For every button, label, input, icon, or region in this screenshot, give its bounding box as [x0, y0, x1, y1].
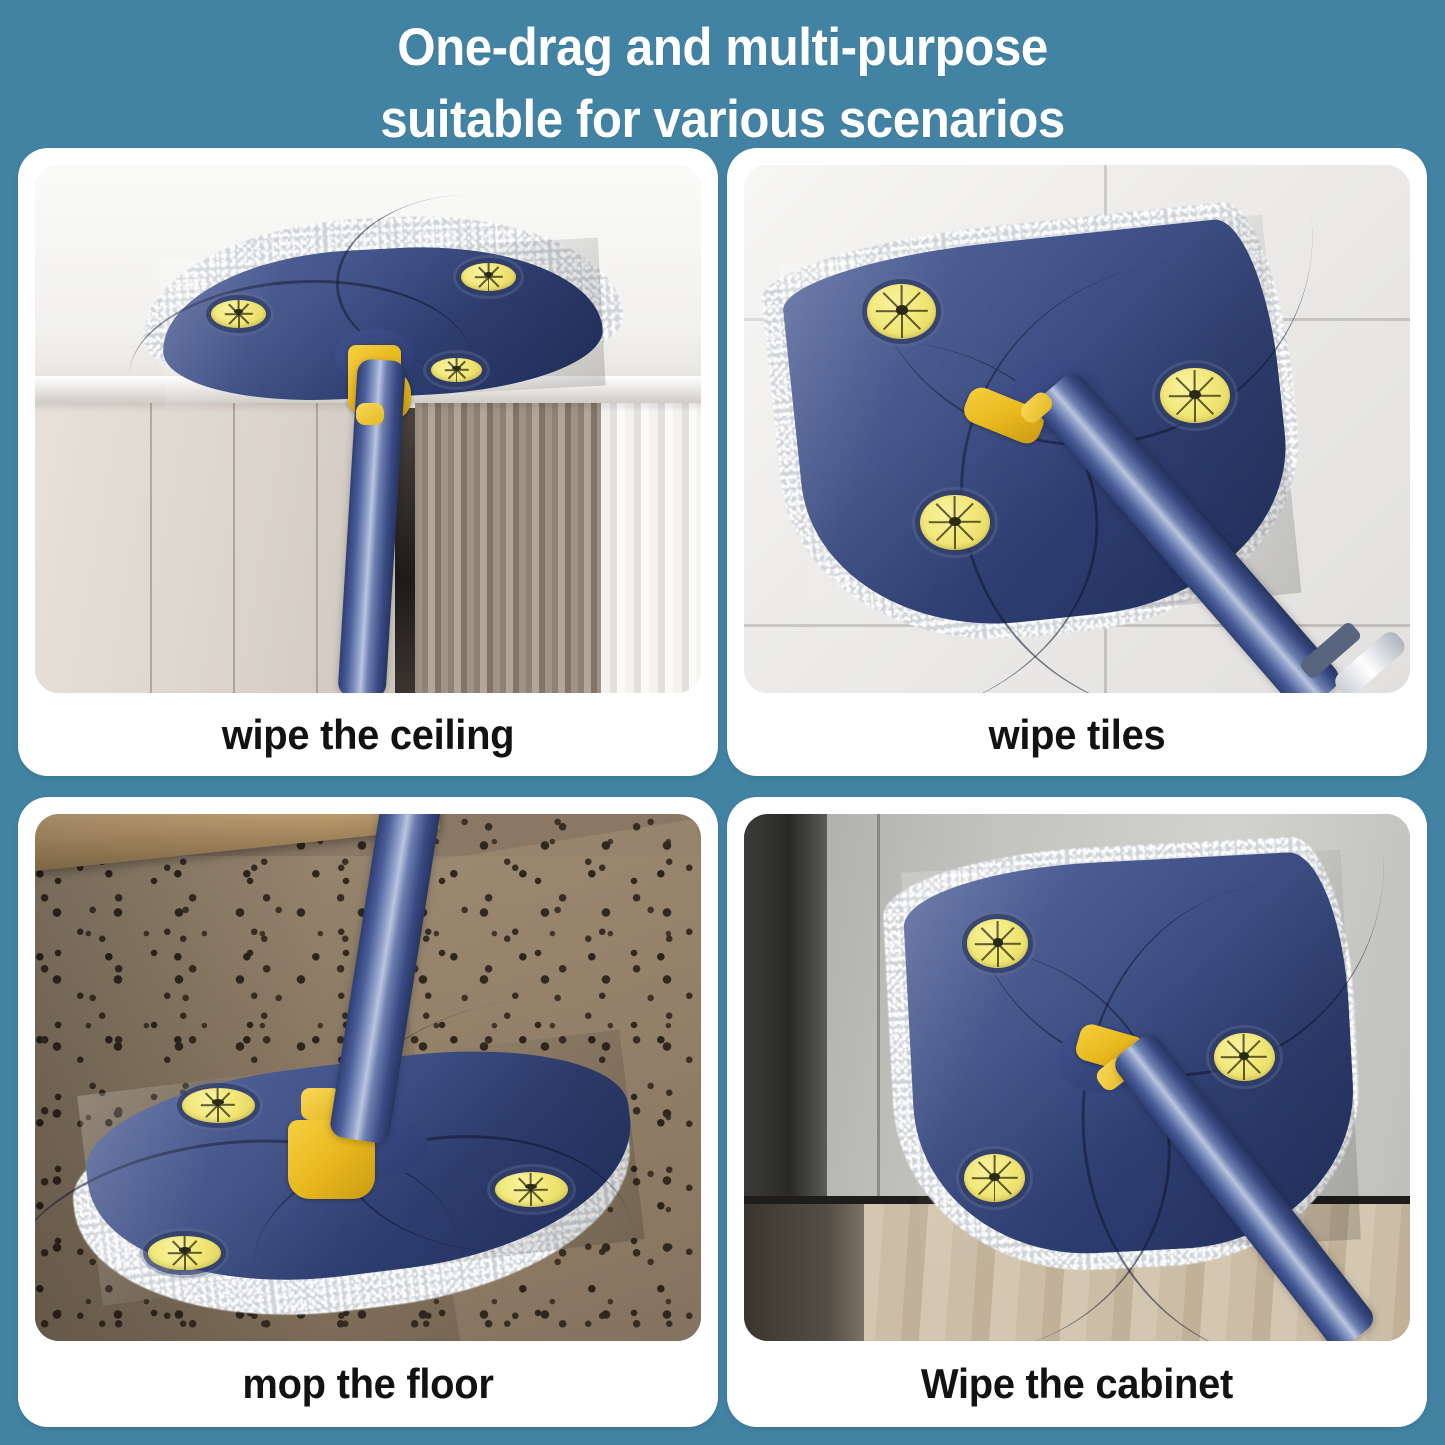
product-photo-cabinet	[744, 814, 1410, 1341]
scenario-card-floor[interactable]: mop the floor	[18, 797, 718, 1427]
product-photo-ceiling	[35, 165, 701, 693]
page-title-line-2: suitable for various scenarios	[51, 84, 1395, 156]
mop-pad-lock-disc[interactable]	[211, 300, 266, 329]
product-photo-floor	[35, 814, 701, 1341]
mop-assembly-ceiling	[35, 165, 701, 693]
mop-pad-lock-disc[interactable]	[461, 263, 516, 292]
mop-pad-lock-disc[interactable]	[431, 358, 482, 382]
card-caption-cabinet: Wipe the cabinet	[761, 1341, 1394, 1427]
mop-assembly-tiles	[744, 165, 1410, 693]
mop-assembly-cabinet	[744, 814, 1410, 1341]
page-title: One-drag and multi-purpose suitable for …	[51, 12, 1395, 156]
product-photo-tiles	[744, 165, 1410, 693]
mop-pad-lock-disc[interactable]	[867, 284, 936, 339]
mop-pad-lock-disc[interactable]	[1160, 368, 1229, 423]
plate-seam	[1069, 874, 1410, 1341]
card-caption-ceiling: wipe the ceiling	[52, 693, 685, 776]
scenario-card-grid: wipe the ceiling	[18, 148, 1427, 1427]
plate-seam	[747, 938, 1181, 1341]
card-caption-tiles: wipe tiles	[761, 693, 1394, 776]
card-caption-floor: mop the floor	[52, 1341, 685, 1427]
mop-pad-lock-disc[interactable]	[967, 919, 1028, 967]
scene-speckled-floor	[35, 814, 701, 1341]
scenario-card-ceiling[interactable]: wipe the ceiling	[18, 148, 718, 776]
scenario-card-tiles[interactable]: wipe tiles	[727, 148, 1427, 776]
mop-pad-lock-disc[interactable]	[920, 495, 989, 550]
scene-bedroom-ceiling	[35, 165, 701, 693]
plate-seam	[124, 272, 476, 467]
scene-tiled-wall	[744, 165, 1410, 693]
mop-pad-lock-disc[interactable]	[964, 1154, 1025, 1202]
mop-assembly-floor	[35, 814, 701, 1341]
handle-release-button[interactable]	[356, 403, 384, 425]
mop-pad-lock-disc[interactable]	[495, 1172, 568, 1207]
scenario-card-cabinet[interactable]: Wipe the cabinet	[727, 797, 1427, 1427]
page-title-line-1: One-drag and multi-purpose	[51, 12, 1395, 84]
mop-pad-lock-disc[interactable]	[182, 1088, 255, 1123]
mop-pad-lock-disc[interactable]	[1214, 1033, 1275, 1081]
scene-cabinet-panel	[744, 814, 1410, 1341]
